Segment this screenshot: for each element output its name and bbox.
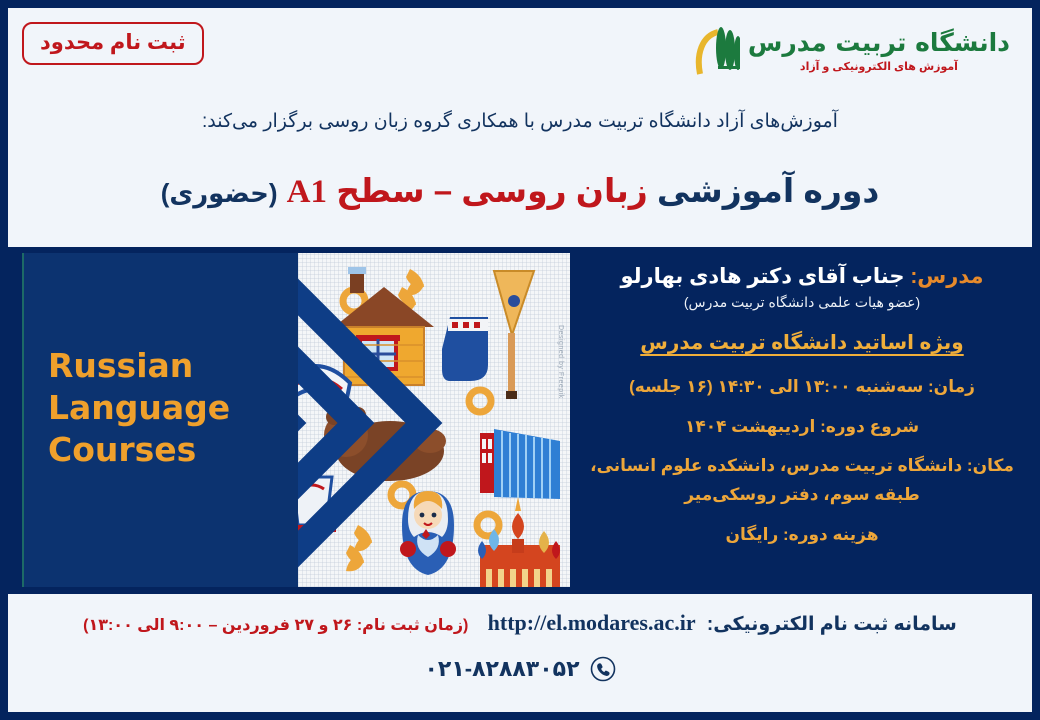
banner-line-2: Language xyxy=(48,387,230,429)
course-start: شروع دوره: اردیبهشت ۱۴۰۴ xyxy=(586,415,1018,440)
banner-line-3: Courses xyxy=(48,429,230,471)
university-emblem-icon xyxy=(694,24,740,78)
russian-culture-icons xyxy=(298,253,570,587)
course-title: دوره آموزشی زبان روسی – سطح A1 (حضوری) xyxy=(48,166,992,218)
university-logo: دانشگاه تربیت مدرس آموزش های الکترونیکی … xyxy=(694,24,1010,78)
artwork-banner: Russian Language Courses xyxy=(22,253,302,587)
banner-line-1: Russian xyxy=(48,345,230,387)
course-fee: هزینه دوره: رایگان xyxy=(586,523,1018,548)
registration-window: (زمان ثبت نام: ۲۶ و ۲۷ فروردین – ۹:۰۰ ال… xyxy=(83,617,468,634)
logo-subtitle: آموزش های الکترونیکی و آزاد xyxy=(748,61,1010,74)
samovar-icon xyxy=(298,465,336,532)
wheat-icon xyxy=(346,525,372,571)
limited-registration-badge: ثبت نام محدود xyxy=(22,22,204,65)
artwork-credit: Designed by Freepik xyxy=(557,325,564,399)
st-basils-cathedral-icon xyxy=(478,497,560,587)
course-location-line-2: طبقه سوم، دفتر روسکی‌میر xyxy=(586,483,1018,508)
course-details: مدرس: جناب آقای دکتر هادی بهارلو (عضو هی… xyxy=(586,263,1018,562)
course-title-highlight: زبان روسی – سطح xyxy=(336,172,648,209)
boot-icon xyxy=(442,317,488,381)
balalaika-icon xyxy=(494,271,534,399)
bear-icon xyxy=(324,407,446,481)
special-note: ویژه اساتید دانشگاه تربیت مدرس xyxy=(586,330,1018,355)
logo-text: دانشگاه تربیت مدرس آموزش های الکترونیکی … xyxy=(748,29,1010,73)
phone-number[interactable]: ۰۲۱-۸۲۸۸۳۰۵۲ xyxy=(424,656,579,682)
course-title-suffix: (حضوری) xyxy=(161,178,278,208)
matryoshka-icon xyxy=(400,491,456,575)
course-level: A1 xyxy=(287,174,327,210)
course-time: زمان: سه‌شنبه ۱۳:۰۰ الی ۱۴:۳۰ (۱۶ جلسه) xyxy=(586,375,1018,400)
course-artwork: Russian Language Courses xyxy=(22,253,570,587)
course-title-prefix: دوره آموزشی xyxy=(657,172,879,209)
poster-footer: سامانه ثبت نام الکترونیکی: http://el.mod… xyxy=(8,594,1032,712)
organizer-line: آموزش‌های آزاد دانشگاه تربیت مدرس با همک… xyxy=(48,108,992,137)
logo-title: دانشگاه تربیت مدرس xyxy=(748,29,1010,58)
phone-row: ۰۲۱-۸۲۸۸۳۰۵۲ xyxy=(8,656,1032,682)
instructor-row: مدرس: جناب آقای دکتر هادی بهارلو xyxy=(586,263,1018,291)
bagel-icon xyxy=(469,390,491,412)
registration-url[interactable]: http://el.modares.ac.ir xyxy=(488,610,696,636)
artwork-banner-text: Russian Language Courses xyxy=(48,345,230,472)
instructor-name: جناب آقای دکتر هادی بهارلو xyxy=(620,265,904,288)
poster-header: ثبت نام محدود دانشگاه تربیت مدرس آموزش ه… xyxy=(8,8,1032,247)
instructor-affiliation: (عضو هیات علمی دانشگاه تربیت مدرس) xyxy=(586,293,1018,313)
registration-row: سامانه ثبت نام الکترونیکی: http://el.mod… xyxy=(32,610,1008,636)
main-band: Russian Language Courses xyxy=(8,247,1032,594)
artwork-illustrations: Designed by Freepik xyxy=(298,253,570,587)
poster: ثبت نام محدود دانشگاه تربیت مدرس آموزش ه… xyxy=(0,0,1040,720)
course-location-line-1: مکان: دانشگاه تربیت مدرس، دانشکده علوم ا… xyxy=(586,454,1018,479)
accordion-icon xyxy=(480,429,560,499)
instructor-label: مدرس: xyxy=(910,265,983,288)
registration-label: سامانه ثبت نام الکترونیکی: xyxy=(707,614,957,635)
phone-icon xyxy=(590,656,616,682)
kokoshnik-icon xyxy=(298,366,350,403)
